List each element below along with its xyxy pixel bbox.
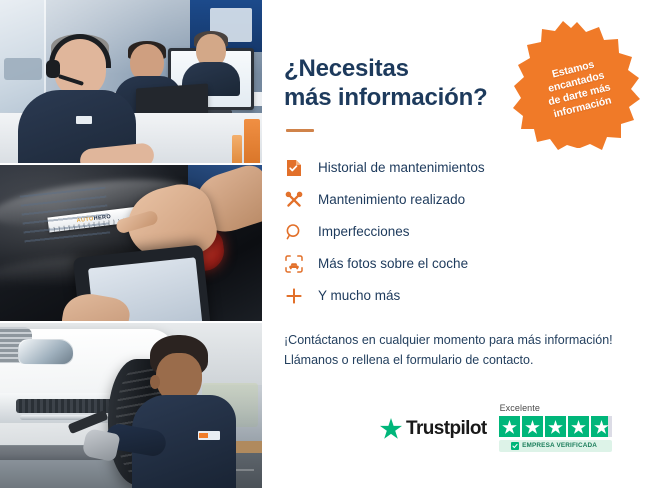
star-4 bbox=[568, 416, 589, 437]
contact-paragraph: ¡Contáctanos en cualquier momento para m… bbox=[284, 330, 624, 371]
call-center-agents-photo bbox=[0, 0, 262, 165]
feature-label: Más fotos sobre el coche bbox=[318, 257, 468, 271]
tablet-screen-rows bbox=[20, 187, 111, 244]
autohero-ruler-photo: AUTOHERO bbox=[0, 165, 262, 323]
feature-item-historial: Historial de mantenimientos bbox=[284, 152, 624, 184]
page-title: ¿Necesitas más información? bbox=[284, 54, 514, 113]
mechanic-chest-logo bbox=[198, 431, 220, 440]
content-panel: ¿Necesitas más información? Historial de… bbox=[262, 0, 650, 488]
feature-list: Historial de mantenimientos Mantenimient… bbox=[284, 152, 624, 312]
verified-badge: EMPRESA VERIFICADA bbox=[499, 440, 612, 452]
feature-item-mantenimiento: Mantenimiento realizado bbox=[284, 184, 624, 216]
mechanic-ear bbox=[150, 375, 160, 389]
trustpilot-wordmark: Trustpilot bbox=[406, 419, 487, 438]
tools-cross-icon bbox=[284, 190, 304, 210]
feature-item-mas: Y mucho más bbox=[284, 280, 624, 312]
feature-item-fotos: Más fotos sobre el coche bbox=[284, 248, 624, 280]
check-square-icon bbox=[511, 442, 519, 450]
orange-decor-a bbox=[244, 119, 260, 165]
feature-label: Y mucho más bbox=[318, 289, 400, 303]
mechanic-figure bbox=[132, 335, 236, 488]
headline-line-1: ¿Necesitas bbox=[284, 55, 409, 82]
trustpilot-logo[interactable]: Trustpilot bbox=[380, 418, 487, 439]
title-divider bbox=[286, 129, 314, 132]
promo-card: AUTOHERO bbox=[0, 0, 650, 488]
agent-name-badge bbox=[76, 116, 92, 124]
rating-label: Excelente bbox=[500, 404, 540, 413]
contact-line-1: ¡Contáctanos en cualquier momento para m… bbox=[284, 330, 624, 351]
star-rating bbox=[499, 416, 612, 437]
mechanic-wheel-photo bbox=[0, 323, 262, 488]
star-5 bbox=[591, 416, 612, 437]
plus-icon bbox=[284, 286, 304, 306]
trustpilot-star-icon bbox=[380, 418, 402, 439]
car-headlight bbox=[18, 339, 74, 365]
contact-line-2: Llámanos o rellena el formulario de cont… bbox=[284, 350, 624, 371]
trustpilot-rating: Excelente bbox=[499, 404, 612, 452]
feature-label: Imperfecciones bbox=[318, 225, 410, 239]
feature-label: Mantenimiento realizado bbox=[318, 193, 465, 207]
magnifier-icon bbox=[284, 222, 304, 242]
star-1 bbox=[499, 416, 520, 437]
verified-label: EMPRESA VERIFICADA bbox=[522, 443, 597, 449]
info-badge: Estamos encantados de darte más informac… bbox=[512, 20, 642, 150]
car-scan-icon bbox=[284, 254, 304, 274]
star-2 bbox=[522, 416, 543, 437]
headline-line-2: más información? bbox=[284, 84, 488, 111]
trustpilot-widget[interactable]: Trustpilot Excelente bbox=[380, 404, 612, 452]
feature-label: Historial de mantenimientos bbox=[318, 161, 485, 175]
star-3 bbox=[545, 416, 566, 437]
photo-collage: AUTOHERO bbox=[0, 0, 262, 488]
document-check-icon bbox=[284, 158, 304, 178]
feature-item-imperfecciones: Imperfecciones bbox=[284, 216, 624, 248]
orange-decor-b bbox=[232, 135, 242, 165]
agent-foreground bbox=[18, 38, 136, 165]
agent-background bbox=[182, 34, 240, 90]
badge-text: Estamos encantados de darte más informac… bbox=[521, 51, 634, 126]
